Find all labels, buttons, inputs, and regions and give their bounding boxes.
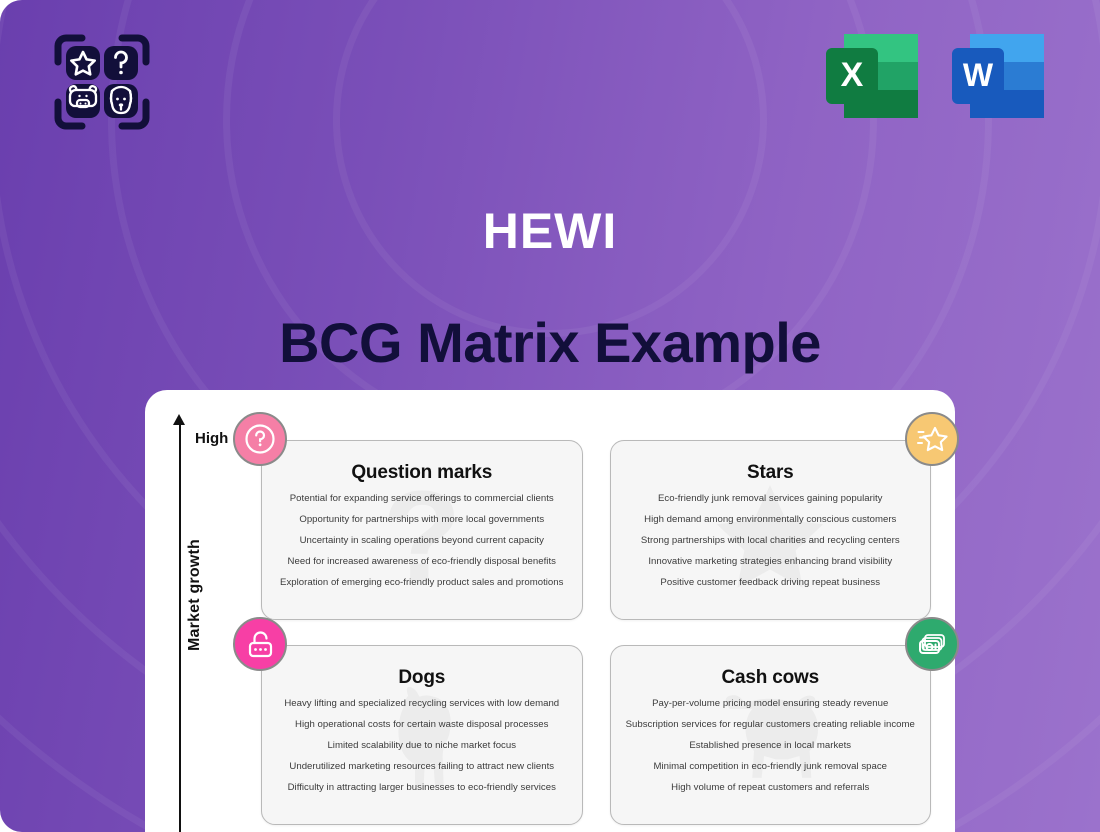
list-item: Uncertainty in scaling operations beyond…: [276, 536, 568, 546]
quadrant-items: Eco-friendly junk removal services gaini…: [625, 494, 917, 588]
list-item: Eco-friendly junk removal services gaini…: [625, 494, 917, 504]
quadrant-heading: Dogs: [276, 667, 568, 689]
quadrant-box: ? Question marks Potential for expanding…: [261, 440, 583, 620]
list-item: Potential for expanding service offering…: [276, 494, 568, 504]
quadrant-box: Stars Eco-friendly junk removal services…: [610, 440, 932, 620]
list-item: Need for increased awareness of eco-frie…: [276, 557, 568, 567]
list-item: Underutilized marketing resources failin…: [276, 762, 568, 772]
axis-high-label: High: [195, 430, 228, 447]
unlock-dots-icon[interactable]: [233, 617, 287, 671]
quadrant-stars[interactable]: Stars Eco-friendly junk removal services…: [610, 440, 932, 620]
quadrant-heading: Question marks: [276, 462, 568, 484]
quadrant-question-marks[interactable]: ? Question marks Potential for expanding…: [261, 440, 583, 620]
slide-root: X W HEWI BCG Matrix Example High Market …: [0, 0, 1100, 832]
list-item: Heavy lifting and specialized recycling …: [276, 699, 568, 709]
market-growth-axis: [179, 422, 181, 832]
hewi-quad-logo-icon: [52, 32, 152, 132]
quadrant-items: Potential for expanding service offering…: [276, 494, 568, 588]
svg-text:X: X: [841, 56, 864, 94]
list-item: Positive customer feedback driving repea…: [625, 578, 917, 588]
star-icon[interactable]: [905, 412, 959, 466]
list-item: Limited scalability due to niche market …: [276, 741, 568, 751]
banknotes-icon[interactable]: [905, 617, 959, 671]
quadrant-grid: ? Question marks Potential for expanding…: [261, 440, 931, 825]
axis-title: Market growth: [186, 515, 204, 675]
list-item: Established presence in local markets: [625, 741, 917, 751]
quadrant-dogs[interactable]: Dogs Heavy lifting and specialized recyc…: [261, 645, 583, 825]
bcg-matrix-card: High Market growth ? Question marks Pote…: [145, 390, 955, 832]
list-item: High volume of repeat customers and refe…: [625, 783, 917, 793]
list-item: High operational costs for certain waste…: [276, 720, 568, 730]
quadrant-items: Pay-per-volume pricing model ensuring st…: [625, 699, 917, 793]
word-icon: W: [948, 28, 1048, 124]
list-item: Innovative marketing strategies enhancin…: [625, 557, 917, 567]
list-item: Difficulty in attracting larger business…: [276, 783, 568, 793]
office-app-icons: X W: [822, 28, 1048, 124]
list-item: Subscription services for regular custom…: [625, 720, 917, 730]
quadrant-box: Dogs Heavy lifting and specialized recyc…: [261, 645, 583, 825]
list-item: Opportunity for partnerships with more l…: [276, 515, 568, 525]
list-item: Minimal competition in eco-friendly junk…: [625, 762, 917, 772]
question-mark-icon[interactable]: [233, 412, 287, 466]
quadrant-heading: Stars: [625, 462, 917, 484]
list-item: Pay-per-volume pricing model ensuring st…: [625, 699, 917, 709]
list-item: Strong partnerships with local charities…: [625, 536, 917, 546]
svg-text:W: W: [963, 57, 994, 93]
quadrant-items: Heavy lifting and specialized recycling …: [276, 699, 568, 793]
page-title: BCG Matrix Example: [0, 312, 1100, 374]
list-item: High demand among environmentally consci…: [625, 515, 917, 525]
quadrant-box: Cash cows Pay-per-volume pricing model e…: [610, 645, 932, 825]
quadrant-cash-cows[interactable]: Cash cows Pay-per-volume pricing model e…: [610, 645, 932, 825]
brand-name: HEWI: [0, 206, 1100, 256]
list-item: Exploration of emerging eco-friendly pro…: [276, 578, 568, 588]
quadrant-heading: Cash cows: [625, 667, 917, 689]
excel-icon: X: [822, 28, 922, 124]
